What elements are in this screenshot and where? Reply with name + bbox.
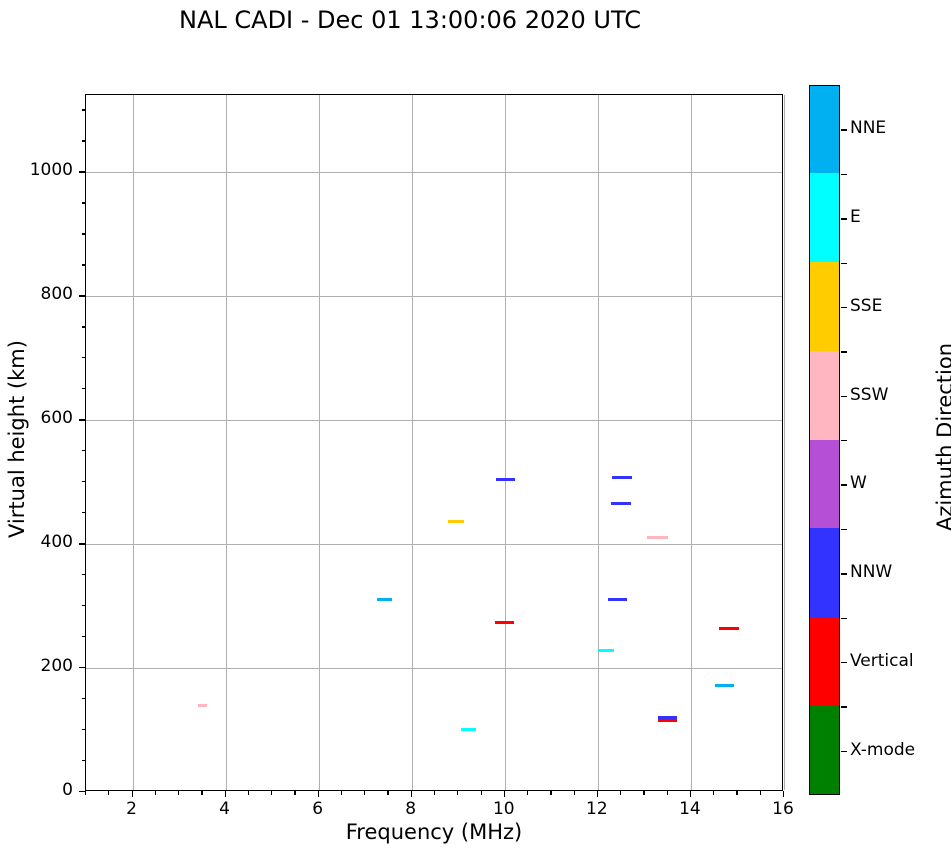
colorbar-label-sse: SSE xyxy=(850,296,882,316)
colorbar-tick xyxy=(841,129,847,130)
y-tick xyxy=(79,543,85,544)
y-tick-minor xyxy=(82,698,86,699)
x-tick-minor xyxy=(736,791,737,795)
colorbar-tick xyxy=(841,218,847,219)
x-tick xyxy=(597,791,598,797)
y-tick-minor xyxy=(82,326,86,327)
x-tick-label: 6 xyxy=(295,799,341,819)
y-tick-minor xyxy=(82,109,86,110)
colorbar-boundary-tick xyxy=(841,529,847,530)
x-tick xyxy=(504,791,505,797)
y-axis-label: Virtual height (km) xyxy=(5,89,29,789)
y-tick-minor xyxy=(82,729,86,730)
colorbar-tick xyxy=(841,662,847,663)
colorbar-boundary-tick xyxy=(841,440,847,441)
colorbar-label: Azimuth Direction xyxy=(933,87,951,787)
data-trace-mark xyxy=(448,520,464,523)
data-trace-mark xyxy=(495,621,514,624)
gridline-vertical xyxy=(784,95,785,790)
data-trace-mark xyxy=(715,684,735,687)
data-trace-mark xyxy=(198,704,207,707)
y-tick-minor xyxy=(82,481,86,482)
x-tick-label: 2 xyxy=(109,799,155,819)
colorbar-label-e: E xyxy=(850,207,861,227)
data-trace-mark xyxy=(611,502,631,505)
data-trace-mark xyxy=(608,598,628,601)
colorbar-segment-ssw xyxy=(810,351,839,440)
x-tick-minor xyxy=(178,791,179,795)
x-tick xyxy=(225,791,226,797)
data-trace-mark xyxy=(496,478,515,481)
colorbar-label-ssw: SSW xyxy=(850,385,888,405)
colorbar-label-w: W xyxy=(850,473,867,493)
y-tick-minor xyxy=(82,388,86,389)
colorbar-tick xyxy=(841,396,847,397)
x-tick-minor xyxy=(364,791,365,795)
colorbar-tick xyxy=(841,751,847,752)
y-tick xyxy=(79,667,85,668)
x-tick xyxy=(411,791,412,797)
x-tick-label: 4 xyxy=(202,799,248,819)
x-tick-minor xyxy=(341,791,342,795)
colorbar-segment-x-mode xyxy=(810,706,839,795)
colorbar xyxy=(809,85,840,795)
x-tick-label: 8 xyxy=(388,799,434,819)
x-tick-minor xyxy=(108,791,109,795)
y-tick-minor xyxy=(82,450,86,451)
colorbar-segment-nnw xyxy=(810,528,839,617)
colorbar-tick xyxy=(841,573,847,574)
y-tick-minor xyxy=(82,605,86,606)
colorbar-label-vertical: Vertical xyxy=(850,651,914,671)
x-axis-label: Frequency (MHz) xyxy=(85,820,783,844)
x-tick-minor xyxy=(713,791,714,795)
y-tick-minor xyxy=(82,357,86,358)
data-layer xyxy=(86,95,782,790)
x-tick-minor xyxy=(620,791,621,795)
y-tick-minor xyxy=(82,264,86,265)
x-tick-label: 14 xyxy=(667,799,713,819)
x-tick-minor xyxy=(643,791,644,795)
y-tick-minor xyxy=(82,636,86,637)
ionogram-page: NAL CADI - Dec 01 13:00:06 2020 UTC 2468… xyxy=(0,0,951,856)
y-tick-minor xyxy=(82,512,86,513)
x-tick xyxy=(690,791,691,797)
page-title: NAL CADI - Dec 01 13:00:06 2020 UTC xyxy=(0,6,820,34)
x-tick-minor xyxy=(248,791,249,795)
x-tick-minor xyxy=(85,791,86,795)
colorbar-tick xyxy=(841,484,847,485)
data-trace-mark xyxy=(647,536,667,539)
colorbar-segment-w xyxy=(810,440,839,529)
x-tick-minor xyxy=(201,791,202,795)
x-tick-minor xyxy=(387,791,388,795)
data-trace-mark xyxy=(719,627,739,630)
colorbar-label-nnw: NNW xyxy=(850,562,892,582)
x-tick xyxy=(318,791,319,797)
y-tick-minor xyxy=(82,760,86,761)
y-tick-minor xyxy=(82,140,86,141)
y-tick xyxy=(79,419,85,420)
x-tick-minor xyxy=(527,791,528,795)
x-tick-label: 16 xyxy=(760,799,806,819)
x-tick-minor xyxy=(271,791,272,795)
x-tick-minor xyxy=(550,791,551,795)
x-tick-minor xyxy=(457,791,458,795)
x-tick-minor xyxy=(434,791,435,795)
colorbar-boundary-tick xyxy=(841,618,847,619)
data-trace-mark xyxy=(598,649,614,652)
colorbar-tick xyxy=(841,307,847,308)
colorbar-boundary-tick xyxy=(841,174,847,175)
x-tick-minor xyxy=(574,791,575,795)
data-trace-mark xyxy=(377,598,392,601)
y-tick-minor xyxy=(82,202,86,203)
y-tick xyxy=(79,171,85,172)
x-tick-minor xyxy=(760,791,761,795)
x-tick-minor xyxy=(667,791,668,795)
plot-area xyxy=(85,94,783,791)
colorbar-segment-e xyxy=(810,173,839,262)
colorbar-segment-nne xyxy=(810,85,839,173)
x-tick xyxy=(132,791,133,797)
data-trace-mark xyxy=(612,476,632,479)
x-tick-minor xyxy=(155,791,156,795)
colorbar-label-x-mode: X-mode xyxy=(850,740,915,760)
x-tick-minor xyxy=(481,791,482,795)
y-tick xyxy=(79,791,85,792)
x-tick-label: 10 xyxy=(481,799,527,819)
colorbar-boundary-tick xyxy=(841,706,847,707)
y-tick-minor xyxy=(82,574,86,575)
colorbar-boundary-tick xyxy=(841,351,847,352)
data-trace-mark xyxy=(658,716,678,719)
colorbar-segment-sse xyxy=(810,262,839,351)
data-trace-mark xyxy=(461,728,477,731)
colorbar-label-nne: NNE xyxy=(850,118,886,138)
x-tick-label: 12 xyxy=(574,799,620,819)
y-tick-minor xyxy=(82,233,86,234)
x-tick-minor xyxy=(294,791,295,795)
x-tick xyxy=(783,791,784,797)
colorbar-boundary-tick xyxy=(841,263,847,264)
colorbar-segment-vertical xyxy=(810,617,839,706)
data-trace-mark xyxy=(658,719,678,722)
y-tick xyxy=(79,295,85,296)
